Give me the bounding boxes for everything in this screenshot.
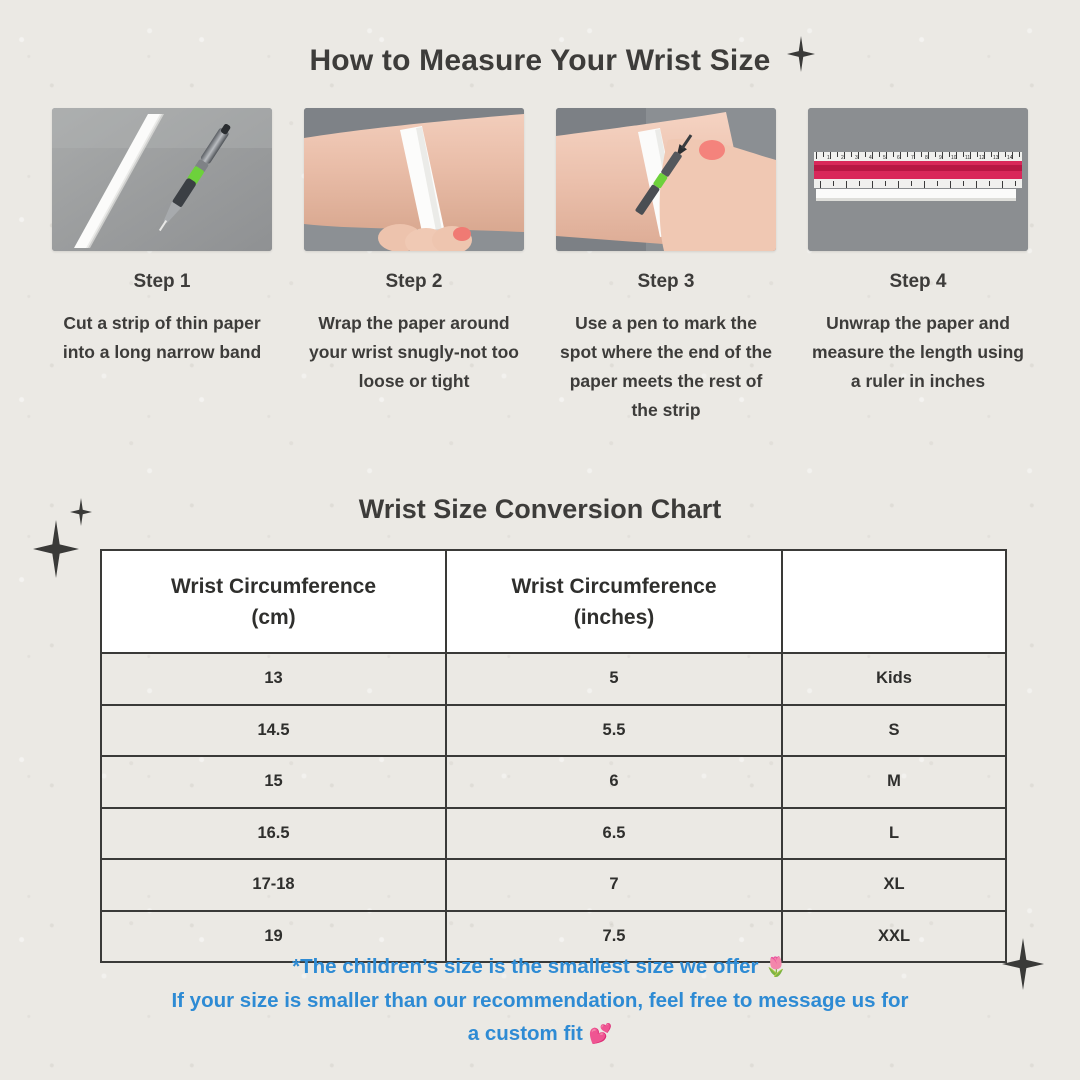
- cell-inches: 5.5: [446, 705, 782, 757]
- photo-marking-paper-with-pen: [556, 108, 776, 251]
- cell-cm: 17-18: [101, 859, 446, 911]
- cell-inches: 5: [446, 653, 782, 705]
- svg-text:4: 4: [869, 155, 872, 161]
- cell-inches: 6: [446, 756, 782, 808]
- page-title: How to Measure Your Wrist Size: [0, 44, 1080, 78]
- table-header-row: Wrist Circumference (cm) Wrist Circumfer…: [101, 550, 1006, 653]
- cell-cm: 13: [101, 653, 446, 705]
- cell-size: S: [782, 705, 1006, 757]
- wrist-size-conversion-table: Wrist Circumference (cm) Wrist Circumfer…: [100, 549, 1007, 963]
- svg-text:12: 12: [979, 155, 985, 161]
- photo-paper-wrapped-around-wrist: [304, 108, 524, 251]
- step-label: Step 2: [385, 271, 442, 293]
- step-card-3: Step 3 Use a pen to mark the spot where …: [556, 108, 776, 425]
- table-row: 16.5 6.5 L: [101, 808, 1006, 860]
- footer-line-3: a custom fit 💕: [60, 1017, 1020, 1051]
- svg-text:9: 9: [939, 155, 942, 161]
- footer-line-2: If your size is smaller than our recomme…: [60, 984, 1020, 1017]
- step-label: Step 1: [133, 271, 190, 293]
- cell-size: XL: [782, 859, 1006, 911]
- two-hearts-icon: 💕: [589, 1024, 613, 1045]
- cell-size: Kids: [782, 653, 1006, 705]
- svg-text:3: 3: [855, 155, 858, 161]
- svg-text:8: 8: [925, 155, 928, 161]
- svg-text:7: 7: [911, 155, 914, 161]
- cell-cm: 14.5: [101, 705, 446, 757]
- cell-inches: 7: [446, 859, 782, 911]
- footer-line-3-text: a custom fit: [468, 1022, 583, 1045]
- svg-text:14: 14: [1007, 155, 1013, 161]
- svg-text:13: 13: [993, 155, 999, 161]
- svg-text:5: 5: [883, 155, 886, 161]
- svg-text:10: 10: [951, 155, 957, 161]
- cell-cm: 15: [101, 756, 446, 808]
- table-row: 13 5 Kids: [101, 653, 1006, 705]
- table-header-inches: Wrist Circumference (inches): [446, 550, 782, 653]
- photo-paper-strip-and-pen: [52, 108, 272, 251]
- infographic-page: How to Measure Your Wrist Size: [0, 0, 1080, 1080]
- svg-text:6: 6: [897, 155, 900, 161]
- table-row: 14.5 5.5 S: [101, 705, 1006, 757]
- chart-title: Wrist Size Conversion Chart: [0, 494, 1080, 525]
- svg-text:11: 11: [965, 155, 970, 161]
- table-header-cm: Wrist Circumference (cm): [101, 550, 446, 653]
- step-description: Wrap the paper around your wrist snugly-…: [307, 309, 522, 396]
- tulip-icon: 🌷: [764, 957, 788, 978]
- footer-line-1-text: *The children’s size is the smallest siz…: [292, 955, 758, 978]
- step-card-1: Step 1 Cut a strip of thin paper into a …: [52, 108, 272, 425]
- svg-text:1: 1: [827, 155, 830, 161]
- step-card-2: Step 2 Wrap the paper around your wrist …: [304, 108, 524, 425]
- steps-row: Step 1 Cut a strip of thin paper into a …: [0, 108, 1080, 425]
- cell-cm: 16.5: [101, 808, 446, 860]
- table-row: 15 6 M: [101, 756, 1006, 808]
- cell-size: L: [782, 808, 1006, 860]
- header-line-2: (inches): [457, 602, 771, 633]
- step-card-4: 123 456 789 101112 1314 Step 4 Unwrap th…: [808, 108, 1028, 425]
- footer-line-1: *The children’s size is the smallest siz…: [60, 950, 1020, 984]
- header-line-1: Wrist Circumference: [457, 571, 771, 602]
- step-description: Unwrap the paper and measure the length …: [811, 309, 1026, 396]
- step-label: Step 4: [889, 271, 946, 293]
- step-description: Use a pen to mark the spot where the end…: [559, 309, 774, 425]
- step-description: Cut a strip of thin paper into a long na…: [55, 309, 270, 367]
- cell-inches: 6.5: [446, 808, 782, 860]
- cell-size: M: [782, 756, 1006, 808]
- svg-text:2: 2: [841, 155, 844, 161]
- table-header-size: [782, 550, 1006, 653]
- header-line-1: Wrist Circumference: [112, 571, 435, 602]
- header-line-2: (cm): [112, 602, 435, 633]
- sparkle-icon-left-large: [33, 520, 79, 578]
- step-label: Step 3: [637, 271, 694, 293]
- table-row: 17-18 7 XL: [101, 859, 1006, 911]
- photo-measuring-strip-with-ruler: 123 456 789 101112 1314: [808, 108, 1028, 251]
- footer-note: *The children’s size is the smallest siz…: [60, 950, 1020, 1051]
